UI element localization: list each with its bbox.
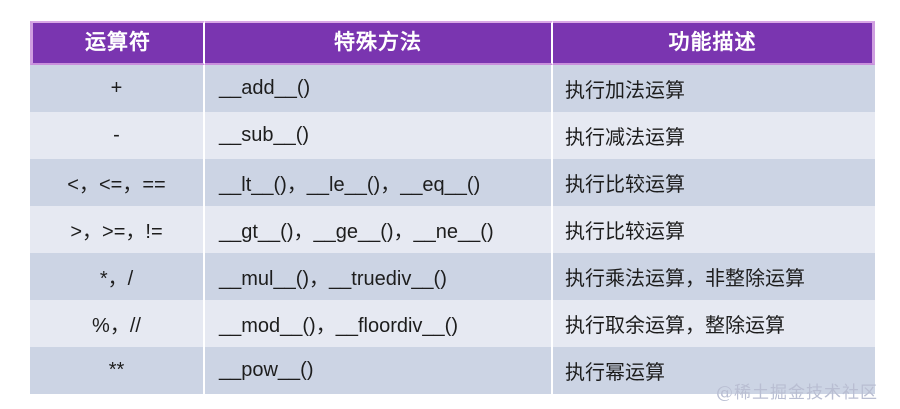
cell-description: 执行乘法运算，非整除运算 (553, 253, 875, 300)
cell-description: 执行减法运算 (553, 112, 875, 159)
cell-description: 执行比较运算 (553, 206, 875, 253)
cell-special-method: __pow__() (205, 347, 553, 394)
table-row: + __add__() 执行加法运算 (30, 65, 875, 112)
cell-special-method: __mod__()，__floordiv__() (205, 300, 553, 347)
cell-special-method: __sub__() (205, 112, 553, 159)
cell-special-method: __lt__()，__le__()，__eq__() (205, 159, 553, 206)
cell-special-method: __add__() (205, 65, 553, 112)
cell-description: 执行加法运算 (553, 65, 875, 112)
table-body: + __add__() 执行加法运算 - __sub__() 执行减法运算 <，… (30, 65, 875, 394)
table-row: ** __pow__() 执行幂运算 (30, 347, 875, 394)
cell-description: 执行幂运算 (553, 347, 875, 394)
table-header-row: 运算符 特殊方法 功能描述 (30, 21, 875, 65)
cell-operator: ** (30, 347, 205, 394)
cell-operator: >，>=，!= (30, 206, 205, 253)
cell-operator: - (30, 112, 205, 159)
column-header-special-method: 特殊方法 (205, 21, 553, 65)
table-row: <，<=，== __lt__()，__le__()，__eq__() 执行比较运… (30, 159, 875, 206)
cell-operator: %，// (30, 300, 205, 347)
cell-operator: *，/ (30, 253, 205, 300)
operator-special-method-table: 运算符 特殊方法 功能描述 + __add__() 执行加法运算 - __sub… (30, 21, 875, 394)
table-row: %，// __mod__()，__floordiv__() 执行取余运算，整除运… (30, 300, 875, 347)
table-row: - __sub__() 执行减法运算 (30, 112, 875, 159)
cell-special-method: __gt__()，__ge__()，__ne__() (205, 206, 553, 253)
cell-description: 执行取余运算，整除运算 (553, 300, 875, 347)
operator-table-container: 运算符 特殊方法 功能描述 + __add__() 执行加法运算 - __sub… (30, 21, 875, 394)
column-header-operator: 运算符 (30, 21, 205, 65)
cell-description: 执行比较运算 (553, 159, 875, 206)
cell-operator: + (30, 65, 205, 112)
cell-operator: <，<=，== (30, 159, 205, 206)
table-header: 运算符 特殊方法 功能描述 (30, 21, 875, 65)
table-row: >，>=，!= __gt__()，__ge__()，__ne__() 执行比较运… (30, 206, 875, 253)
cell-special-method: __mul__()，__truediv__() (205, 253, 553, 300)
column-header-description: 功能描述 (553, 21, 875, 65)
table-row: *，/ __mul__()，__truediv__() 执行乘法运算，非整除运算 (30, 253, 875, 300)
